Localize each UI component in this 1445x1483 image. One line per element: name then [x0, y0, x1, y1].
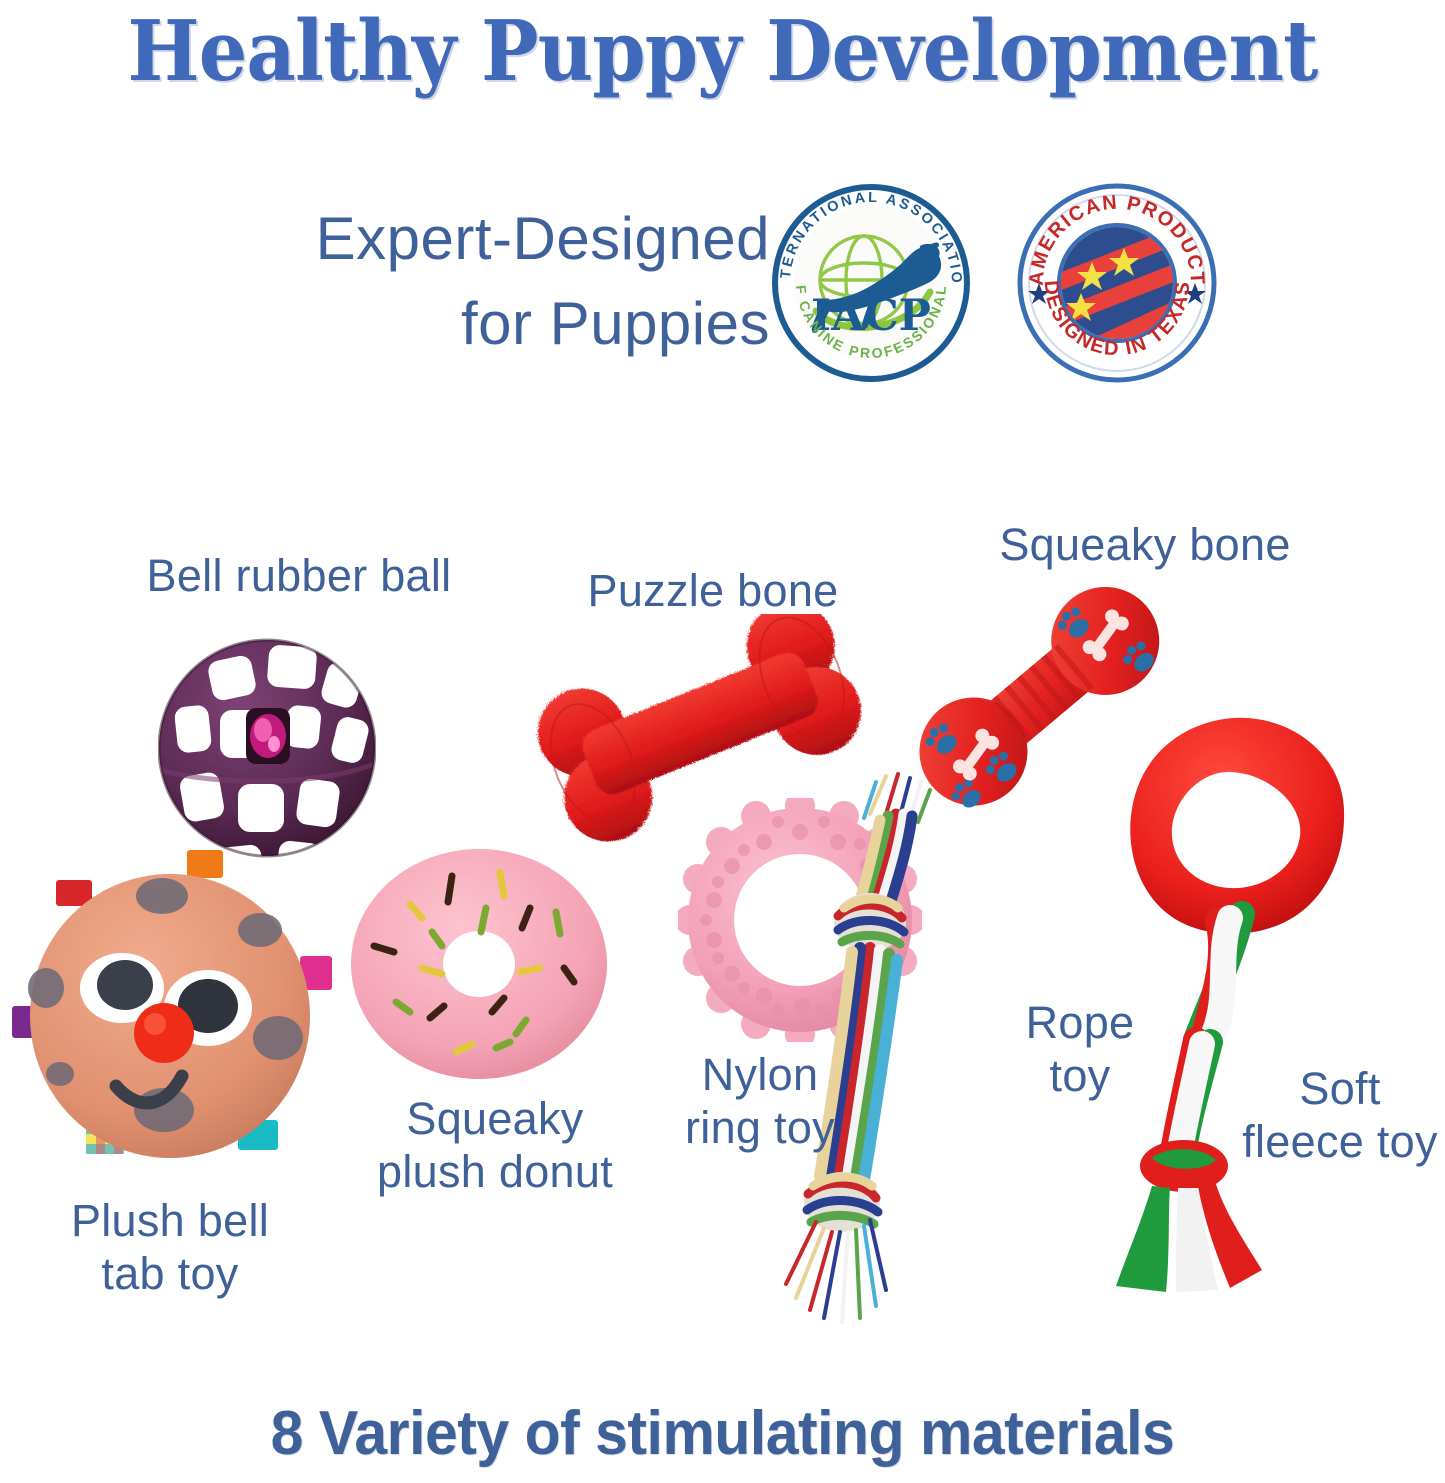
product-label-rope-toy: Rope toy — [985, 996, 1175, 1102]
subheading-line-2: for Puppies — [150, 281, 770, 366]
pom-nose — [134, 1003, 194, 1063]
fleece-ring — [1130, 718, 1344, 934]
american-product-badge: AMERICAN PRODUCT DESIGNED IN TEXAS — [1014, 180, 1220, 386]
product-image-bell-rubber-ball — [158, 602, 376, 884]
product-label-squeaky-bone: Squeaky bone — [990, 518, 1300, 571]
infographic-canvas: Healthy Puppy Development Expert-Designe… — [0, 0, 1445, 1483]
bell-inside-icon — [250, 714, 286, 758]
product-label-puzzle-bone: Puzzle bone — [578, 564, 848, 617]
product-label-squeaky-plush-donut: Squeaky plush donut — [355, 1092, 635, 1198]
product-image-squeaky-plush-donut — [348, 846, 610, 1082]
iacp-certification-badge: IACP INTERNATIONAL ASSOCIATION OF CANINE… — [768, 180, 974, 386]
product-label-bell-rubber-ball: Bell rubber ball — [124, 549, 474, 602]
product-image-plush-bell-tab-toy — [12, 848, 332, 1178]
subheading-line-1: Expert-Designed — [150, 196, 770, 281]
subheading: Expert-Designed for Puppies — [150, 196, 770, 366]
product-label-nylon-ring-toy: Nylon ring toy — [650, 1048, 870, 1154]
fleece-tassels — [1116, 1184, 1262, 1292]
rope-fray-bottom — [786, 1220, 886, 1322]
page-title: Healthy Puppy Development — [58, 2, 1387, 100]
product-label-plush-bell-tab-toy: Plush bell tab toy — [35, 1194, 305, 1300]
footer-tagline: 8 Variety of stimulating materials — [36, 1398, 1409, 1469]
product-label-soft-fleece-toy: Soft fleece toy — [1240, 1062, 1440, 1168]
